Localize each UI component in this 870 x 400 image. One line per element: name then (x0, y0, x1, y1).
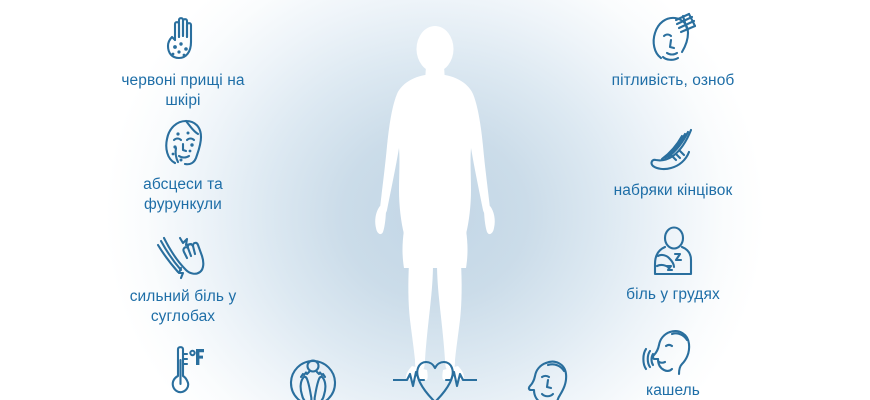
symptom-item-sweating-chills[interactable]: пітливість, озноб (568, 8, 778, 91)
symptoms-infographic: червоні прищі на шкірі (0, 0, 870, 400)
feet-in-circle-icon (285, 356, 341, 400)
arm-joint-pain-icon (152, 224, 214, 282)
symptom-label: сильний біль у суглобах (130, 287, 237, 327)
symptom-item-limb-swelling[interactable]: набряки кінцівок (568, 118, 778, 201)
swollen-foot-icon (641, 118, 705, 176)
symptom-item-abscesses[interactable]: абсцеси та фурункули (78, 112, 288, 215)
symptom-label: біль у грудях (626, 285, 720, 305)
face-with-boils-icon (154, 112, 212, 170)
chest-pain-person-icon (647, 222, 699, 280)
symptom-label: абсцеси та фурункули (143, 175, 223, 215)
coughing-head-icon (642, 318, 704, 376)
symptom-label: пітливість, озноб (612, 71, 735, 91)
symptom-item-joint-pain[interactable]: сильний біль у суглобах (78, 224, 288, 327)
head-profile-icon (522, 356, 582, 400)
symptom-label: набряки кінцівок (614, 181, 733, 201)
symptom-item-fever[interactable]: підвищена (78, 336, 288, 400)
symptom-item-skin-rash[interactable]: червоні прищі на шкірі (78, 8, 288, 111)
human-body-silhouette (368, 18, 502, 380)
thermometer-icon (156, 336, 210, 394)
symptom-item-chest-pain[interactable]: біль у грудях (568, 222, 778, 305)
symptom-label: червоні прищі на шкірі (121, 71, 244, 111)
symptom-label: кашель (646, 381, 700, 400)
thermometer-unit-label (190, 349, 204, 365)
symptom-item-cough[interactable]: кашель (568, 318, 778, 400)
heart-with-ecg-icon (393, 352, 477, 400)
hand-with-spots-icon (155, 8, 211, 66)
sweating-head-icon (643, 8, 703, 66)
